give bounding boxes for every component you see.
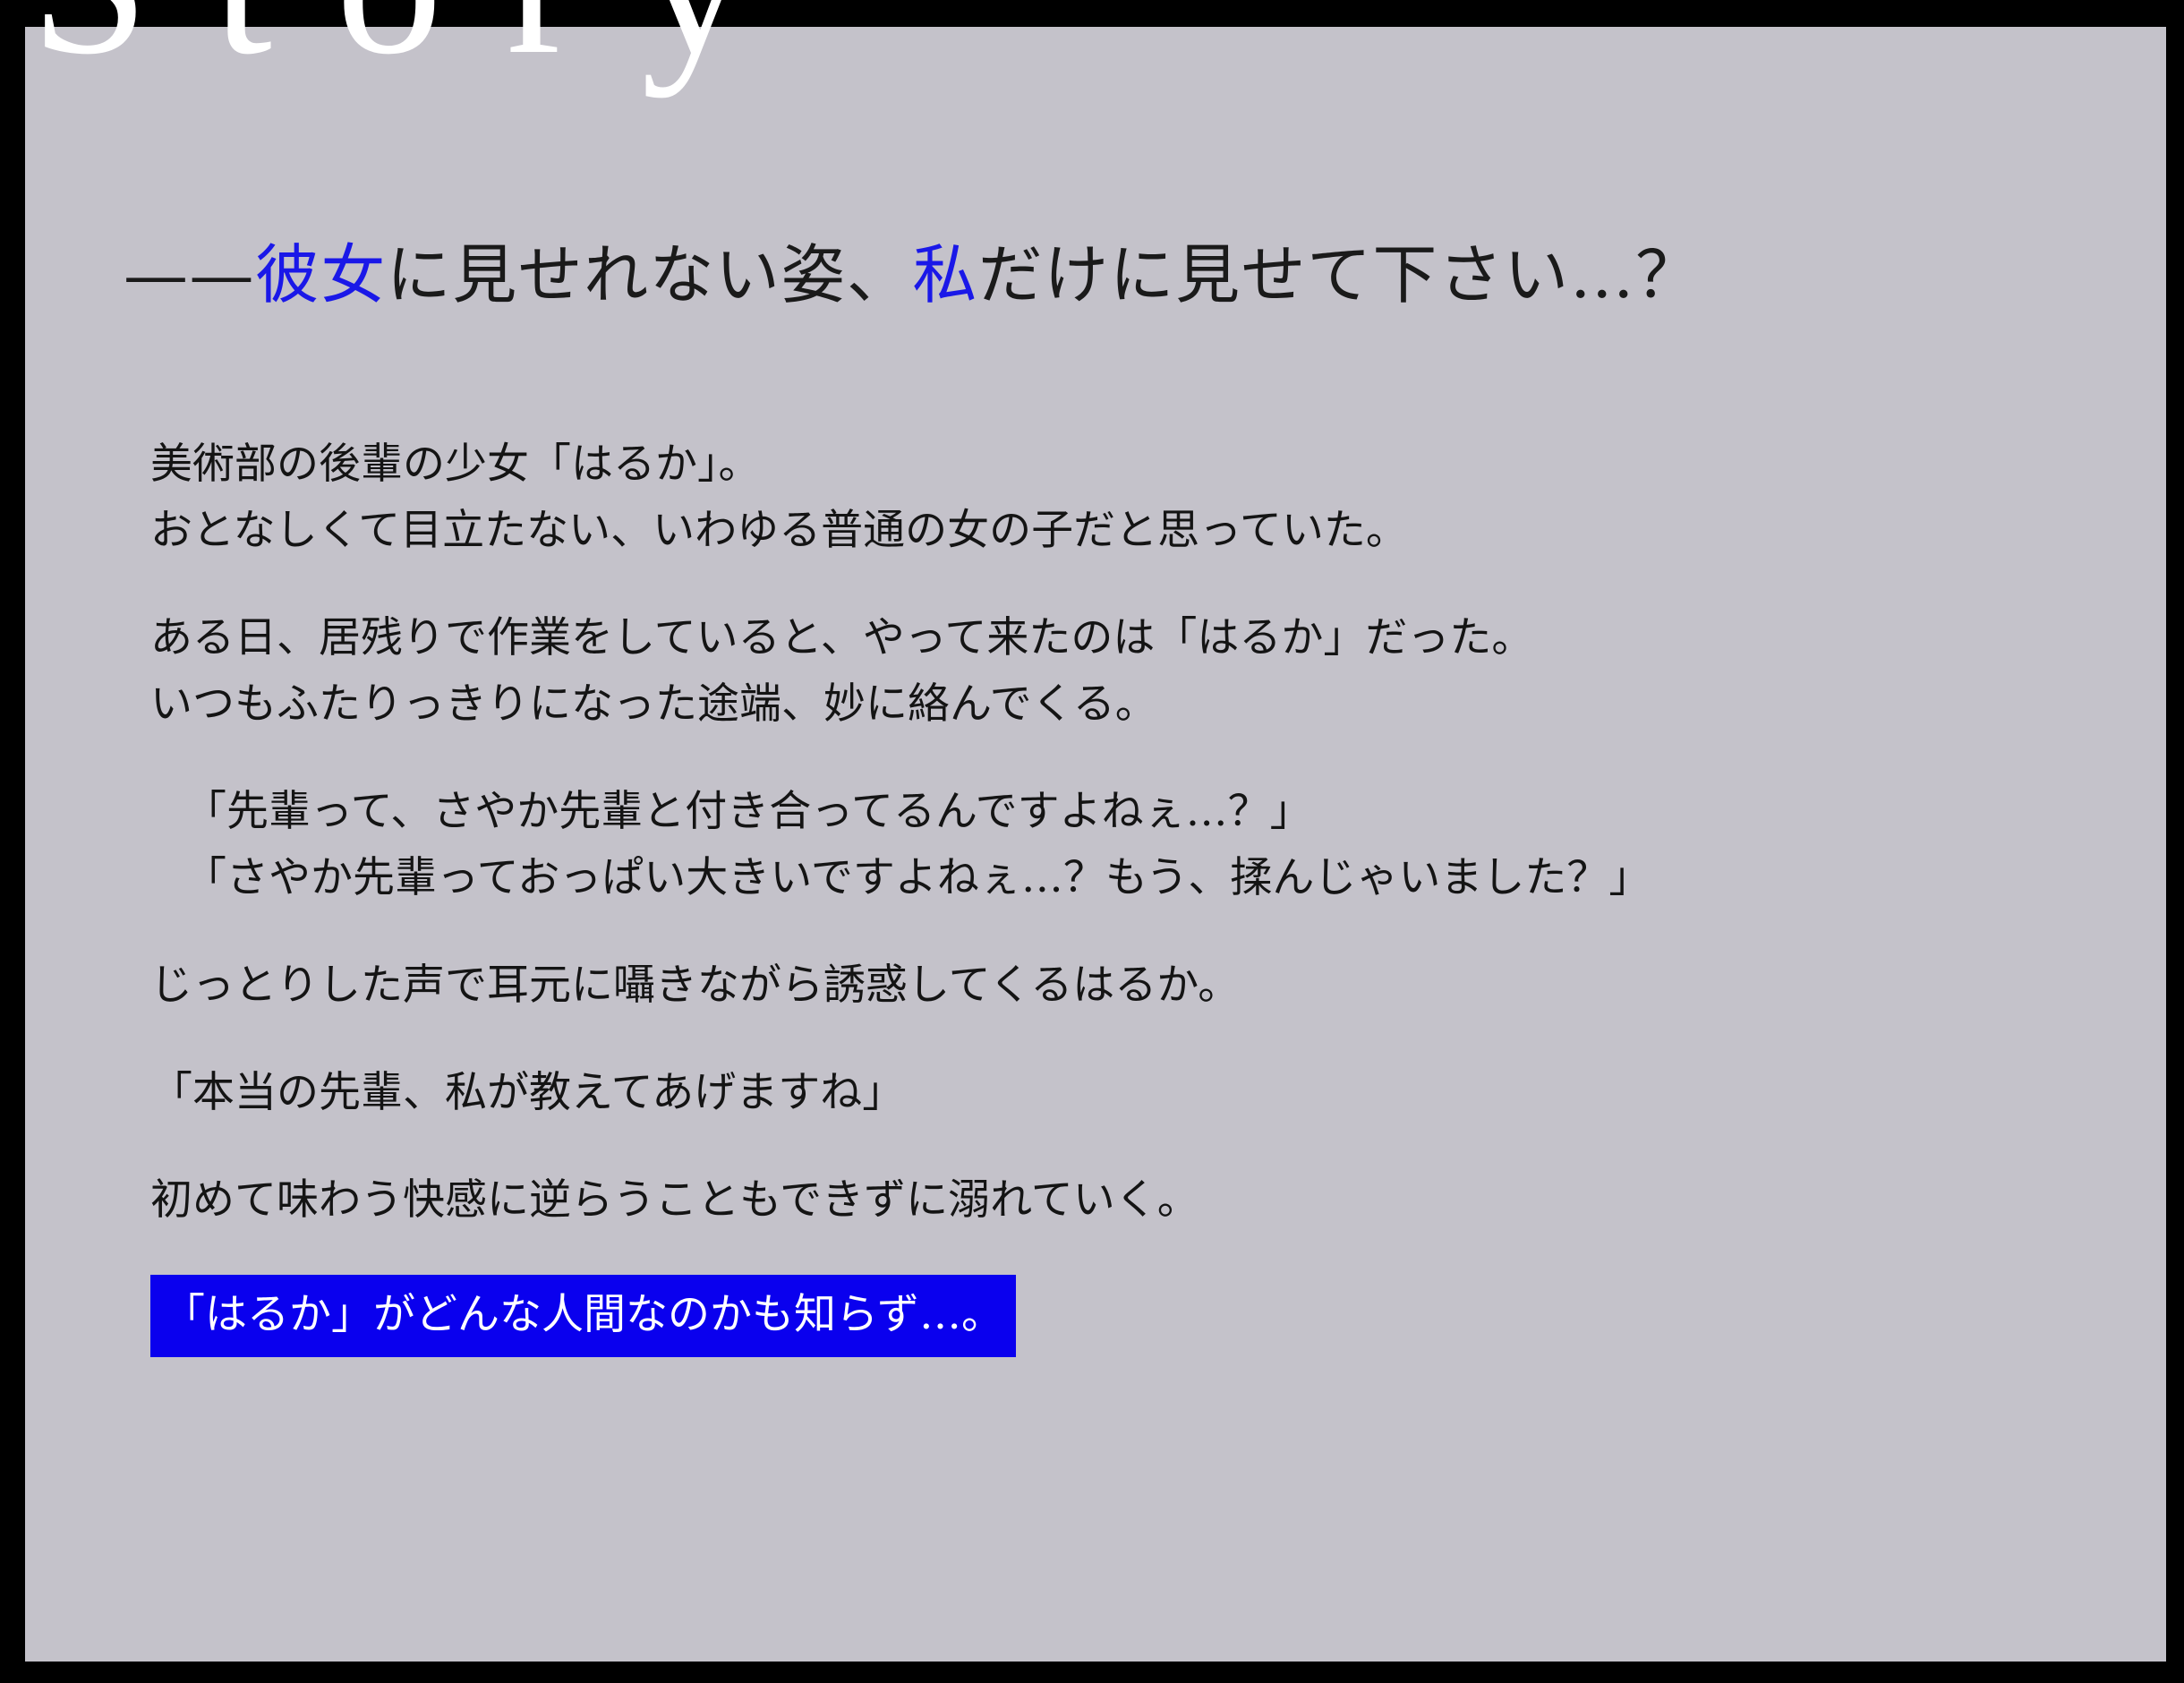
paragraph: じっとりした声で耳元に囁きながら誘惑してくるはるか。: [150, 953, 2102, 1019]
paragraph-line: 「先輩って、さやか先輩と付き合ってるんですよねぇ…？」: [150, 779, 2102, 845]
paragraph: ある日、居残りで作業をしていると、やって来たのは「はるか」だった。いつもふたりっ…: [150, 605, 2102, 738]
headline-suffix: だけに見せて下さい…？: [978, 237, 1702, 312]
paragraph-line: おとなしくて目立たない、いわゆる普通の女の子だと思っていた。: [150, 498, 2102, 564]
headline: ——彼女に見せれない姿、私だけに見せて下さい…？: [124, 240, 1702, 311]
headline-accent-watashi: 私: [912, 237, 977, 312]
paragraph-line: いつもふたりっきりになった途端、妙に絡んでくる。: [150, 671, 2102, 738]
paragraph-line: 美術部の後輩の少女「はるか」。: [150, 431, 2102, 498]
headline-dash: ——: [124, 237, 255, 312]
paragraph-line: ある日、居残りで作業をしていると、やって来たのは「はるか」だった。: [150, 605, 2102, 671]
story-panel: Story ——彼女に見せれない姿、私だけに見せて下さい…？ 美術部の後輩の少女…: [25, 27, 2166, 1662]
page-title: Story: [30, 0, 812, 88]
highlighted-paragraph: 「はるか」がどんな人間なのかも知らず…。: [150, 1275, 2102, 1357]
paragraph: 「本当の先輩、私が教えてあげますね」: [150, 1060, 2102, 1126]
paragraph-line: 「はるか」がどんな人間なのかも知らず…。: [150, 1275, 1016, 1357]
paragraph-line: 「本当の先輩、私が教えてあげますね」: [150, 1060, 2102, 1126]
headline-middle: に見せれない姿、: [387, 237, 913, 312]
paragraph-line: 「さやか先輩っておっぱい大きいですよねぇ…？もう、揉んじゃいました？」: [150, 845, 2102, 911]
story-body: 美術部の後輩の少女「はるか」。おとなしくて目立たない、いわゆる普通の女の子だと思…: [150, 431, 2102, 1357]
paragraph-line: じっとりした声で耳元に囁きながら誘惑してくるはるか。: [150, 953, 2102, 1019]
paragraph: 「先輩って、さやか先輩と付き合ってるんですよねぇ…？」「さやか先輩っておっぱい大…: [150, 779, 2102, 911]
story-page: Story ——彼女に見せれない姿、私だけに見せて下さい…？ 美術部の後輩の少女…: [0, 0, 2184, 1683]
paragraph: 美術部の後輩の少女「はるか」。おとなしくて目立たない、いわゆる普通の女の子だと思…: [150, 431, 2102, 564]
paragraph: 初めて味わう快感に逆らうこともできずに溺れていく。: [150, 1167, 2102, 1234]
headline-accent-kanojo: 彼女: [255, 237, 387, 312]
paragraph-line: 初めて味わう快感に逆らうこともできずに溺れていく。: [150, 1167, 2102, 1234]
